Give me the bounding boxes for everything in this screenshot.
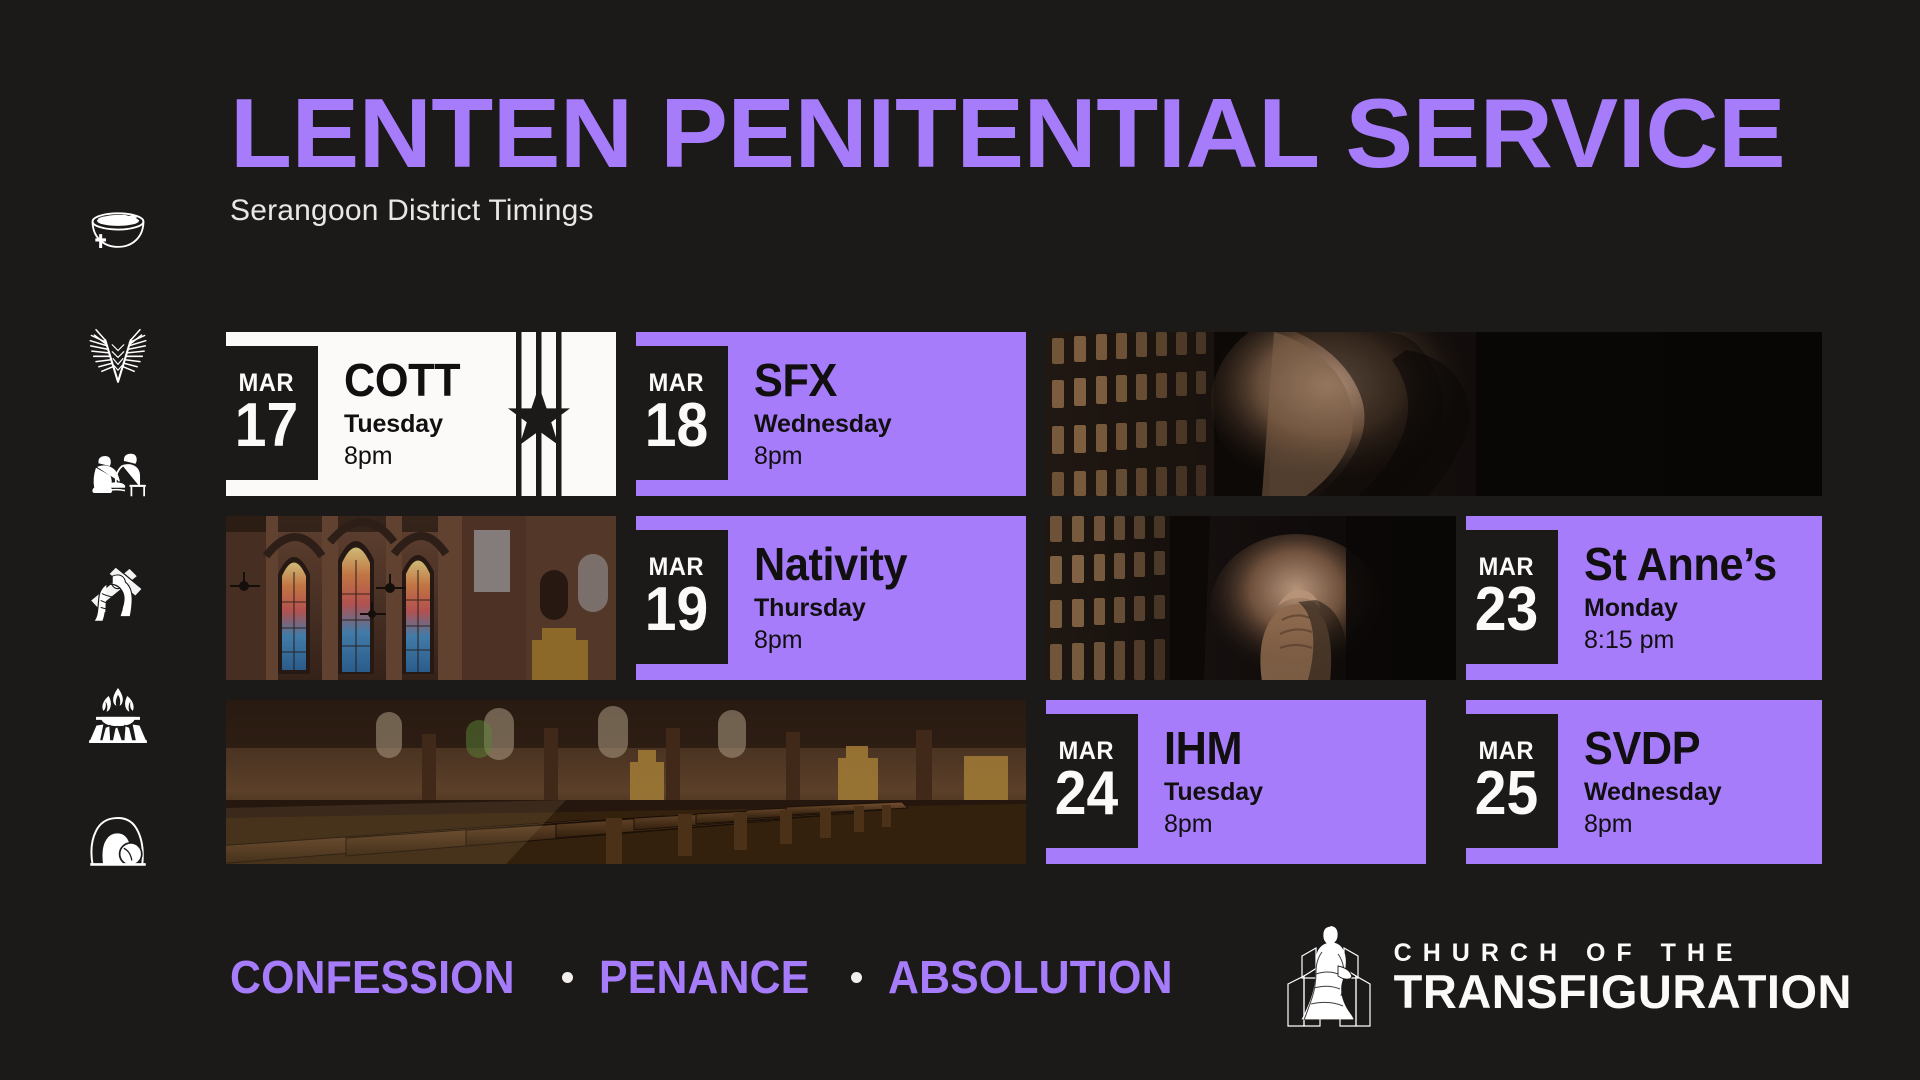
page-subtitle: Serangoon District Timings	[230, 194, 1650, 228]
photo-confessional-profile	[1046, 332, 1822, 496]
sacrament-keywords: CONFESSION PENANCE ABSOLUTION	[230, 950, 1195, 1004]
date-badge: MAR 17	[226, 346, 318, 480]
empty-tomb-icon	[81, 802, 155, 876]
schedule-card-cott[interactable]: MAR 17 COTT Tuesday 8pm	[226, 332, 616, 496]
date-badge: MAR 25	[1466, 714, 1558, 848]
service-time: 8pm	[754, 625, 917, 655]
schedule-card-stannes[interactable]: MAR 23 St Anne’s Monday 8:15 pm	[1466, 516, 1822, 680]
date-day: 17	[234, 397, 297, 454]
service-time: 8pm	[1584, 809, 1722, 839]
date-day: 25	[1474, 765, 1537, 822]
schedule-card-ihm[interactable]: MAR 24 IHM Tuesday 8pm	[1046, 700, 1426, 864]
service-weekday: Tuesday	[344, 409, 468, 440]
parish-name: COTT	[344, 357, 460, 403]
photo-stained-glass-nave	[226, 516, 616, 680]
star-stripes-ornament	[502, 332, 580, 496]
date-day: 24	[1054, 765, 1117, 822]
service-weekday: Monday	[1584, 593, 1789, 624]
page-title: LENTEN PENITENTIAL SERVICE	[230, 88, 1700, 178]
lenten-penitential-service-poster: LENTEN PENITENTIAL SERVICE Serangoon Dis…	[0, 0, 1920, 1080]
palm-branches-icon	[81, 317, 155, 391]
logo-wordmark: CHURCH OF THE TRANSFIGURATION	[1394, 939, 1852, 1015]
logo-line-church-of-the: CHURCH OF THE	[1394, 939, 1852, 968]
date-badge: MAR 23	[1466, 530, 1558, 664]
parish-name: St Anne’s	[1584, 541, 1777, 587]
date-day: 19	[644, 581, 707, 638]
schedule-card-sfx[interactable]: MAR 18 SFX Wednesday 8pm	[636, 332, 1026, 496]
cross-carrying-icon	[81, 560, 155, 634]
keyword-separator-dot	[562, 972, 573, 983]
parish-name: Nativity	[754, 541, 907, 587]
parish-name: IHM	[1164, 725, 1257, 771]
church-logo: CHURCH OF THE TRANSFIGURATION	[1286, 922, 1852, 1032]
service-weekday: Tuesday	[1164, 777, 1263, 808]
keyword-penance: PENANCE	[599, 950, 809, 1004]
date-badge: MAR 18	[636, 346, 728, 480]
lenten-icon-rail	[72, 196, 164, 876]
date-day: 23	[1474, 581, 1537, 638]
foot-washing-icon	[81, 438, 155, 512]
date-badge: MAR 24	[1046, 714, 1138, 848]
date-day: 18	[644, 397, 707, 454]
ash-bowl-icon	[81, 196, 155, 270]
easter-fire-icon	[81, 681, 155, 755]
poster-header: LENTEN PENITENTIAL SERVICE Serangoon Dis…	[230, 88, 1650, 228]
parish-name: SFX	[754, 357, 883, 403]
photo-empty-pews	[226, 700, 1026, 864]
transfiguration-figure-icon	[1286, 922, 1372, 1032]
photo-praying-hands-lattice	[1046, 516, 1456, 680]
keyword-confession: CONFESSION	[230, 950, 515, 1004]
service-time: 8pm	[754, 441, 892, 471]
service-time: 8pm	[344, 441, 468, 471]
logo-line-transfiguration: TRANSFIGURATION	[1394, 968, 1852, 1015]
keyword-absolution: ABSOLUTION	[888, 950, 1173, 1004]
service-weekday: Thursday	[754, 593, 917, 624]
schedule-card-svdp[interactable]: MAR 25 SVDP Wednesday 8pm	[1466, 700, 1822, 864]
service-time: 8:15 pm	[1584, 625, 1789, 655]
service-weekday: Wednesday	[1584, 777, 1722, 808]
service-weekday: Wednesday	[754, 409, 892, 440]
schedule-card-nativity[interactable]: MAR 19 Nativity Thursday 8pm	[636, 516, 1026, 680]
service-schedule-grid: MAR 17 COTT Tuesday 8pm MAR 18 SFX	[226, 332, 1822, 864]
service-time: 8pm	[1164, 809, 1263, 839]
keyword-separator-dot	[851, 972, 862, 983]
parish-name: SVDP	[1584, 725, 1713, 771]
date-badge: MAR 19	[636, 530, 728, 664]
